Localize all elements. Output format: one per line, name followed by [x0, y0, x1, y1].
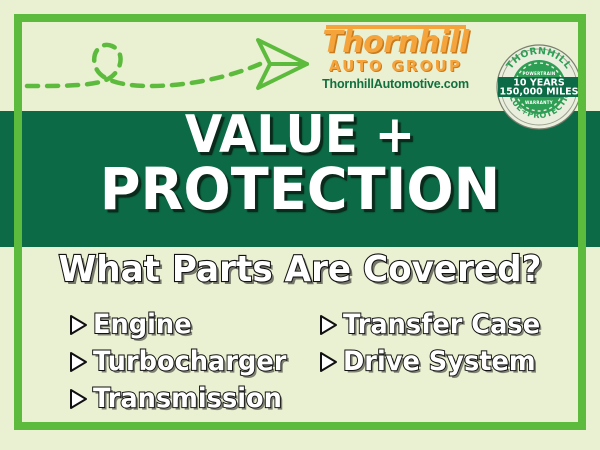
logo-website: ThornhillAutomotive.com — [318, 78, 473, 91]
list-item: Turbocharger — [30, 343, 300, 380]
headline: VALUE + PROTECTION — [0, 112, 600, 216]
headline-line-1: VALUE + — [21, 112, 579, 160]
sub-headline: What Parts Are Covered? — [15, 252, 585, 288]
list-item: Transmission — [30, 380, 300, 417]
list-item: Engine — [30, 306, 300, 343]
svg-text:POWERTRAIN: POWERTRAIN — [522, 71, 555, 76]
list-item-label: Engine — [93, 311, 192, 338]
thornhill-logo: Thornhill AUTO GROUP ThornhillAutomotive… — [318, 28, 473, 91]
list-item-label: Turbocharger — [93, 348, 286, 375]
list-item: Drive System — [300, 343, 570, 380]
triangle-right-icon — [68, 388, 88, 410]
covered-parts-right-column: Transfer Case Drive System — [300, 306, 570, 416]
triangle-right-icon — [318, 314, 338, 336]
triangle-right-icon — [68, 314, 88, 336]
logo-subtitle: AUTO GROUP — [318, 59, 473, 74]
triangle-right-icon — [318, 351, 338, 373]
advertisement-banner: Thornhill AUTO GROUP ThornhillAutomotive… — [0, 0, 600, 450]
list-item: Transfer Case — [300, 306, 570, 343]
dashed-loop-arrow-icon — [22, 24, 312, 110]
logo-wordmark: Thornhill — [318, 28, 473, 58]
svg-text:150,000 MILES: 150,000 MILES — [500, 87, 579, 98]
header-area: Thornhill AUTO GROUP ThornhillAutomotive… — [22, 22, 578, 111]
list-item-label: Transmission — [93, 385, 282, 412]
triangle-right-icon — [68, 351, 88, 373]
headline-line-2: PROTECTION — [12, 163, 588, 216]
svg-text:WARRANTY: WARRANTY — [525, 100, 553, 105]
covered-parts-list: Engine Turbocharger Transmission Tra — [30, 306, 570, 416]
list-item-label: Transfer Case — [343, 311, 540, 338]
list-item-label: Drive System — [343, 348, 536, 375]
covered-parts-left-column: Engine Turbocharger Transmission — [30, 306, 300, 416]
